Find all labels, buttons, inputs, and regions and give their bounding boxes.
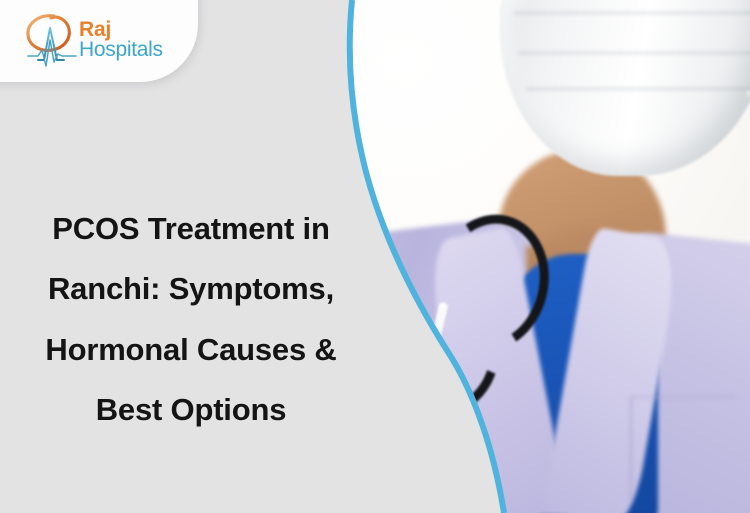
headline-line-4: Best Options — [10, 380, 372, 441]
headline-line-1: PCOS Treatment in — [10, 199, 372, 260]
mask-pleat — [526, 88, 750, 90]
heart-ecg-loop-icon — [24, 10, 78, 68]
page-title: PCOS Treatment in Ranchi: Symptoms, Horm… — [10, 199, 372, 441]
logo-wordmark: Raj Hospitals — [79, 19, 163, 60]
banner: Raj Hospitals PCOS Treatment in Ranchi: … — [0, 0, 750, 513]
logo-word-hospitals: Hospitals — [79, 39, 163, 60]
logo[interactable]: Raj Hospitals — [24, 8, 184, 70]
headline-line-2: Ranchi: Symptoms, — [10, 259, 372, 320]
lab-coat-pocket — [630, 396, 736, 502]
mask-pleat — [514, 12, 750, 14]
logo-word-raj: Raj — [79, 19, 163, 40]
mask-pleat — [518, 52, 750, 54]
headline-line-3: Hormonal Causes & — [10, 320, 372, 381]
